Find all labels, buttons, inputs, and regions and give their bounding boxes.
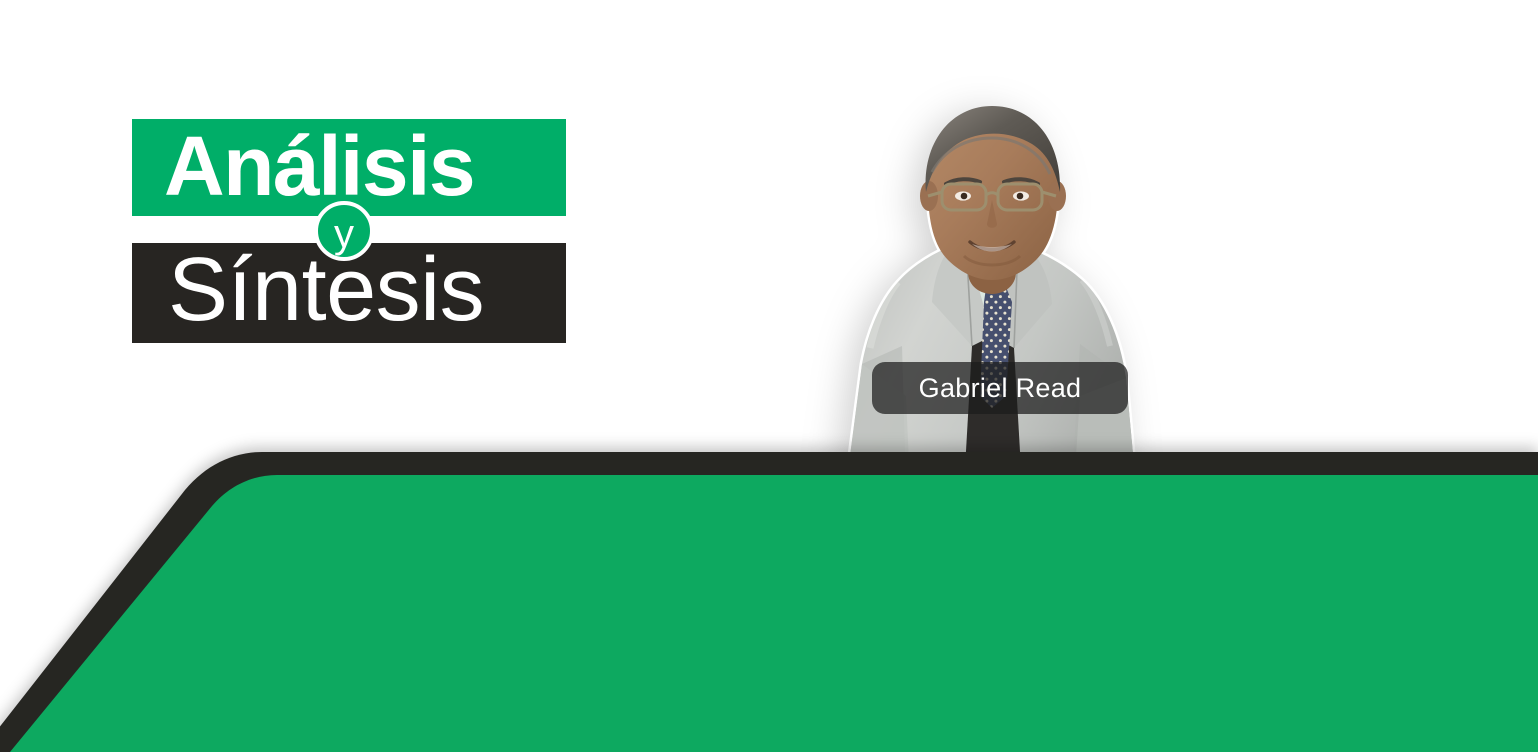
green-banner [0, 430, 1538, 752]
banner-fill [10, 475, 1538, 752]
logo-connector-letter: y [334, 214, 354, 254]
logo-word-analisis: Análisis [164, 124, 474, 208]
green-banner-shape [0, 430, 1538, 752]
logo-word-sintesis: Síntesis [168, 245, 484, 335]
name-badge-label: Gabriel Read [919, 375, 1082, 402]
logo-connector-circle-icon: y [314, 201, 374, 261]
logo-lockup: Análisis Síntesis y [132, 119, 566, 343]
portrait [836, 96, 1148, 486]
name-badge: Gabriel Read [872, 362, 1128, 414]
portrait-illustration [836, 96, 1148, 486]
promo-banner-stage: Análisis Síntesis y [0, 0, 1538, 752]
